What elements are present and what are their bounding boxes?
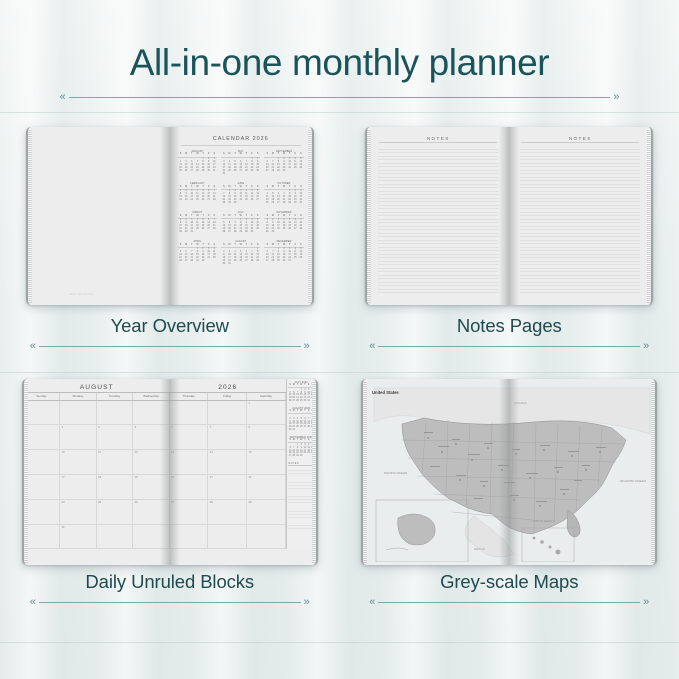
day-cell[interactable]: 8	[247, 425, 286, 450]
month-heading: AUGUST	[24, 379, 170, 392]
panel-notes-pages: NOTES NOTES Notes Pages « »	[340, 118, 679, 352]
mini-calendar-week-row: 2627282930	[178, 260, 217, 263]
svg-text:GULF OF MEXICO: GULF OF MEXICO	[532, 519, 554, 523]
day-cell[interactable]: 27	[170, 500, 209, 525]
book-page-left: GRYNLAKON	[26, 127, 170, 305]
weekday-header-cell: Wednesday	[133, 393, 170, 400]
day-cell[interactable]: 16	[24, 475, 61, 500]
day-cell[interactable]	[60, 401, 97, 426]
day-cell[interactable]: 25	[97, 500, 134, 525]
mini-calendar-week-row: 262728293031	[288, 400, 314, 403]
day-number: 18	[98, 476, 101, 479]
day-number: 27	[171, 501, 174, 504]
day-cell[interactable]	[133, 525, 170, 550]
page-edge-icon	[367, 129, 371, 303]
day-number: 5	[135, 426, 137, 429]
chevron-left-icon: «	[369, 597, 375, 608]
day-cell[interactable]	[208, 401, 247, 426]
day-cell[interactable]	[97, 525, 134, 550]
divider-bar	[378, 602, 640, 603]
day-number: 17	[62, 476, 65, 479]
day-cell[interactable]: 23	[24, 500, 61, 525]
mini-calendar-month-name: JUNE	[221, 182, 260, 185]
photo-daily-unruled-blocks: AUGUST SundayMondayTuesdayWednesday 2345…	[0, 374, 340, 569]
divider-bar	[378, 346, 640, 347]
notes-heading-right: NOTES	[509, 136, 651, 141]
day-cell[interactable]	[208, 525, 247, 550]
svg-text:MEXICO: MEXICO	[474, 547, 486, 551]
mini-calendar-month-name: MAY	[221, 150, 260, 153]
day-cell[interactable]	[247, 525, 286, 550]
day-cell[interactable]: 12	[133, 450, 170, 475]
day-cell[interactable]: 30	[24, 525, 61, 550]
mini-calendar-week-row: 282930	[221, 202, 260, 205]
page-edge-icon	[312, 381, 316, 563]
day-cell[interactable]: 9	[24, 450, 61, 475]
day-number: 8	[248, 426, 250, 429]
day-number: 24	[62, 501, 65, 504]
chevron-right-icon: »	[304, 597, 310, 608]
photo-year-overview: GRYNLAKON CALENDAR 2026 JANUARYSMTWTFS12…	[0, 118, 340, 313]
caption-daily-unruled-blocks: Daily Unruled Blocks	[0, 571, 340, 593]
weekday-header-cell: Tuesday	[97, 393, 134, 400]
mini-calendar-week-row: 27282930	[288, 455, 314, 458]
mini-calendar: NOVEMBERSMTWTFS1234567891011121314151617…	[264, 211, 303, 234]
planner-book-year: GRYNLAKON CALENDAR 2026 JANUARYSMTWTFS12…	[26, 127, 314, 305]
day-number: 25	[98, 501, 101, 504]
month-right-main: 2026 ThursdayFridaySaturday 167813141520…	[170, 379, 286, 550]
book-page-right: CALENDAR 2026 JANUARYSMTWTFS123456789101…	[170, 127, 314, 305]
map-title: United States	[372, 390, 399, 395]
caption-notes-pages: Notes Pages	[340, 315, 679, 337]
header: All-in-one monthly planner « »	[0, 42, 679, 103]
weekday-header-cell: Monday	[60, 393, 97, 400]
mini-calendar: JUNESMTWTFS12345678910111213141516171819…	[221, 182, 260, 205]
mini-calendar-week-row: 293031	[178, 231, 217, 234]
day-cell[interactable]	[24, 401, 61, 426]
side-mini-calendars: JULY 2026SMTWTFS123456789101112131415161…	[288, 381, 314, 459]
mini-calendar-month-name: FEBRUARY	[178, 182, 217, 185]
book-page-left: NOTES	[365, 127, 509, 305]
day-number: 4	[98, 426, 100, 429]
svg-text:ATLANTIC OCEAN: ATLANTIC OCEAN	[620, 479, 646, 483]
caption-grey-scale-maps: Grey-scale Maps	[340, 571, 679, 593]
mini-calendar-month-name: SEPTEMBER	[264, 150, 303, 153]
day-number: 28	[210, 501, 213, 504]
day-cell[interactable]	[170, 525, 209, 550]
notes-heading-left: NOTES	[367, 136, 509, 141]
mini-calendar-week-row: 25262728293031	[264, 202, 303, 205]
day-number: 22	[248, 476, 251, 479]
mini-calendar: OCTOBERSMTWTFS12345678910111213141516171…	[264, 182, 303, 205]
chevron-right-icon: »	[613, 92, 619, 103]
day-cell[interactable]: 20	[170, 475, 209, 500]
day-cell[interactable]	[170, 401, 209, 426]
day-number: 6	[171, 426, 173, 429]
day-cell[interactable]: 1	[247, 401, 286, 426]
day-cell[interactable]: 24	[60, 500, 97, 525]
book-page-right: NOTES	[509, 127, 653, 305]
planner-book-map: United States PACIFIC OCEAN ATLANTIC OCE…	[361, 379, 657, 565]
day-number: 10	[62, 451, 65, 454]
day-cell[interactable]: 3	[60, 425, 97, 450]
mini-calendar: SEPTEMBERSMTWTFS123456789101112131415161…	[264, 150, 303, 176]
mini-calendar-month-name: MARCH	[178, 211, 217, 214]
feature-row: GRYNLAKON CALENDAR 2026 JANUARYSMTWTFS12…	[0, 118, 679, 352]
page-edge-icon	[647, 129, 651, 303]
mini-calendar-month-name: DECEMBER	[264, 240, 303, 243]
month-grid-right: 1678131415202122272829	[170, 401, 286, 550]
weekday-header-left: SundayMondayTuesdayWednesday	[24, 392, 170, 401]
day-cell[interactable]	[97, 401, 134, 426]
page-edge-icon	[363, 381, 367, 563]
weekday-header-cell: Saturday	[247, 393, 286, 400]
mini-calendar-week-row: 31	[221, 173, 260, 176]
mini-calendar-month-name: JULY	[221, 211, 260, 214]
panel-year-overview: GRYNLAKON CALENDAR 2026 JANUARYSMTWTFS12…	[0, 118, 340, 352]
panel-grey-scale-maps: United States PACIFIC OCEAN ATLANTIC OCE…	[340, 374, 679, 608]
weekday-header-cell: Sunday	[24, 393, 61, 400]
planner-book-notes: NOTES NOTES	[365, 127, 653, 305]
day-cell[interactable]: 11	[97, 450, 134, 475]
day-number: 15	[248, 451, 251, 454]
weekday-header-cell: Friday	[208, 393, 247, 400]
day-cell[interactable]: 4	[97, 425, 134, 450]
day-cell[interactable]: 26	[133, 500, 170, 525]
feature-grid: GRYNLAKON CALENDAR 2026 JANUARYSMTWTFS12…	[0, 118, 679, 608]
day-cell[interactable]: 17	[60, 475, 97, 500]
day-number: 12	[135, 451, 138, 454]
mini-calendar-month-name: APRIL	[178, 240, 217, 243]
chevron-left-icon: «	[30, 341, 36, 352]
book-page-left: AUGUST SundayMondayTuesdayWednesday 2345…	[22, 379, 170, 565]
year-value: 2026	[218, 384, 237, 391]
page-title: All-in-one monthly planner	[0, 42, 679, 85]
day-number: 26	[135, 501, 138, 504]
day-cell[interactable]	[133, 401, 170, 426]
caption-divider: « »	[30, 341, 310, 352]
page-edge-icon	[651, 381, 655, 563]
day-cell[interactable]: 7	[208, 425, 247, 450]
mini-calendar-week-row: 262728293031	[221, 231, 260, 234]
mini-calendar: MAYSMTWTFS123456789101112131415161718192…	[221, 150, 260, 176]
day-number: 29	[248, 501, 251, 504]
mini-calendar: DECEMBERSMTWTFS1234567891011121314151617…	[264, 240, 303, 266]
day-cell[interactable]: 18	[97, 475, 134, 500]
mini-calendar-month-name: OCTOBER	[264, 182, 303, 185]
day-number: 3	[62, 426, 64, 429]
day-number: 14	[210, 451, 213, 454]
day-number: 31	[62, 526, 65, 529]
day-cell[interactable]: 14	[208, 450, 247, 475]
day-number: 19	[135, 476, 138, 479]
photo-notes-pages: NOTES NOTES	[340, 118, 679, 313]
book-page-right: 2026 ThursdayFridaySaturday 167813141520…	[170, 379, 318, 565]
day-cell[interactable]: 21	[208, 475, 247, 500]
photo-grey-scale-maps: United States PACIFIC OCEAN ATLANTIC OCE…	[340, 374, 679, 569]
mini-calendar-week-row: 3031	[288, 429, 314, 432]
page-watermark: GRYNLAKON	[70, 292, 93, 296]
day-cell[interactable]: 2	[24, 425, 61, 450]
header-divider: « »	[60, 92, 620, 103]
mini-calendar: MARCHSMTWTFS1234567891011121314151617181…	[178, 211, 217, 234]
day-cell[interactable]: 5	[133, 425, 170, 450]
mini-calendar-month-name: AUGUST	[221, 240, 260, 243]
chevron-right-icon: »	[643, 597, 649, 608]
day-number: 7	[210, 426, 212, 429]
caption-divider: « »	[369, 341, 649, 352]
day-number: 20	[171, 476, 174, 479]
mini-calendar: AUGUST 2026SMTWTFS1234567891011121314151…	[288, 407, 314, 433]
mini-calendar: AUGUSTSMTWTFS123456789101112131415161718…	[221, 240, 260, 266]
page-edge-icon	[28, 129, 32, 303]
mini-calendar: APRILSMTWTFS1234567891011121314151617181…	[178, 240, 217, 266]
side-notes-label: NOTES	[288, 462, 314, 467]
planner-book-month: AUGUST SundayMondayTuesdayWednesday 2345…	[22, 379, 318, 565]
chevron-left-icon: «	[369, 341, 375, 352]
divider-bar	[39, 602, 301, 603]
day-cell[interactable]: 15	[247, 450, 286, 475]
divider-bar	[39, 346, 301, 347]
mini-calendar-week-row: 2930	[264, 231, 303, 234]
caption-divider: « »	[30, 597, 310, 608]
month-right-inner: 2026 ThursdayFridaySaturday 167813141520…	[170, 379, 316, 550]
weekday-header-right: ThursdayFridaySaturday	[170, 392, 286, 401]
ruled-lines	[378, 146, 498, 296]
svg-text:PACIFIC OCEAN: PACIFIC OCEAN	[384, 471, 407, 475]
weekday-header-cell: Thursday	[170, 393, 209, 400]
mini-calendar-month-name: AUGUST 2026	[288, 407, 314, 410]
day-cell[interactable]: 13	[170, 450, 209, 475]
year-heading: 2026	[170, 379, 286, 392]
day-cell[interactable]: 22	[247, 475, 286, 500]
mini-calendar-week-row: 3031	[221, 263, 260, 266]
mini-calendar: FEBRUARYSMTWTFS1234567891011121314151617…	[178, 182, 217, 205]
background-plank-line	[0, 112, 679, 113]
day-cell[interactable]: 31	[60, 525, 97, 550]
us-map-graphic: United States PACIFIC OCEAN ATLANTIC OCE…	[364, 382, 654, 562]
mini-calendar: JANUARYSMTWTFS12345678910111213141516171…	[178, 150, 217, 176]
divider-bar	[69, 97, 611, 98]
day-cell[interactable]: 19	[133, 475, 170, 500]
mini-calendar: JULY 2026SMTWTFS123456789101112131415161…	[288, 381, 314, 404]
mini-calendar-month-name: SEPTEMBER 2026	[288, 436, 314, 439]
mini-calendar-week-row: 2728293031	[264, 260, 303, 263]
day-number: 21	[210, 476, 213, 479]
chevron-left-icon: «	[60, 92, 66, 103]
panel-daily-unruled-blocks: AUGUST SundayMondayTuesdayWednesday 2345…	[0, 374, 340, 608]
svg-text:CANADA: CANADA	[514, 401, 527, 405]
chevron-right-icon: »	[304, 341, 310, 352]
caption-year-overview: Year Overview	[0, 315, 340, 337]
chevron-right-icon: »	[643, 341, 649, 352]
background-plank-line	[0, 642, 679, 643]
mini-calendar: JULYSMTWTFS12345678910111213141516171819…	[221, 211, 260, 234]
page-edge-icon	[308, 129, 312, 303]
month-grid-left: 2345910111216171819232425263031	[24, 401, 170, 550]
side-ruled-lines	[288, 468, 314, 530]
year-month-grid: JANUARYSMTWTFS12345678910111213141516171…	[170, 150, 312, 266]
mini-calendar: SEPTEMBER 2026SMTWTFS1234567891011121314…	[288, 436, 314, 459]
feature-row: AUGUST SundayMondayTuesdayWednesday 2345…	[0, 374, 679, 608]
day-number: 11	[98, 451, 101, 454]
day-cell[interactable]: 28	[208, 500, 247, 525]
map-overlay: United States PACIFIC OCEAN ATLANTIC OCE…	[364, 382, 654, 562]
year-calendar-heading: CALENDAR 2026	[170, 136, 312, 142]
mini-calendar-week-row: 27282930	[264, 170, 303, 173]
mini-calendar-month-name: JANUARY	[178, 150, 217, 153]
day-number: 13	[171, 451, 174, 454]
mini-calendar-month-name: NOVEMBER	[264, 211, 303, 214]
mini-calendar-month-name: JULY 2026	[288, 381, 314, 384]
month-name: AUGUST	[80, 384, 114, 391]
ruled-lines	[520, 146, 640, 296]
day-cell[interactable]: 6	[170, 425, 209, 450]
day-cell[interactable]: 29	[247, 500, 286, 525]
mini-calendar-week-row: 25262728293031	[178, 170, 217, 173]
page-edge-icon	[24, 381, 28, 563]
day-cell[interactable]: 10	[60, 450, 97, 475]
mini-calendar-week-row: 22232425262728	[178, 199, 217, 202]
caption-divider: « »	[369, 597, 649, 608]
chevron-left-icon: «	[30, 597, 36, 608]
day-number: 1	[248, 402, 250, 405]
